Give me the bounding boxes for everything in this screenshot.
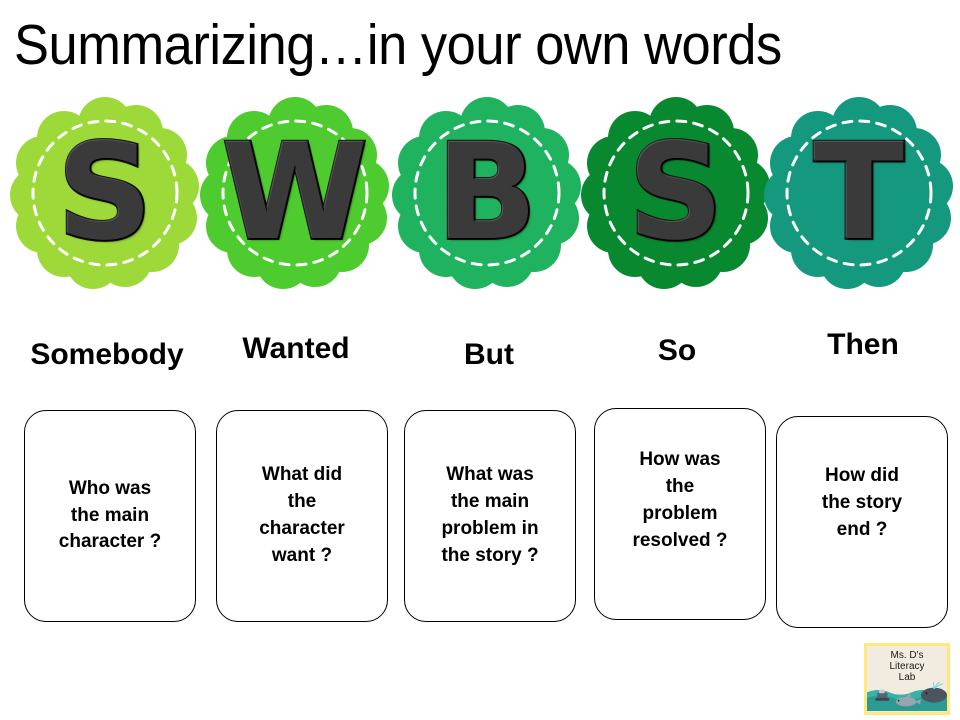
- question-text: What was the main problem in the story ?: [435, 462, 544, 570]
- word-label-so: So: [584, 334, 770, 368]
- word-label-wanted: Wanted: [203, 332, 389, 366]
- badge-letter-glyph: S: [583, 100, 769, 286]
- badge-letter-glyph: T: [766, 100, 952, 286]
- letter-badge-so: .petal-3{fill:#08892f;} S: [583, 100, 769, 286]
- logo-line-1: Ms. D's: [867, 650, 947, 661]
- question-box-but[interactable]: What was the main problem in the story ?: [404, 410, 576, 622]
- word-label-then: Then: [770, 328, 956, 362]
- word-label-row: Somebody Wanted But So Then: [0, 316, 960, 372]
- question-box-wanted[interactable]: What did the character want ?: [216, 410, 388, 622]
- letter-badge-but: .petal-2{fill:#1fb35f;} B: [394, 100, 580, 286]
- ocean-illustration-icon: [867, 682, 947, 712]
- question-text: What did the character want ?: [253, 462, 351, 570]
- page-title: Summarizing…in your own words: [14, 14, 871, 76]
- logo-line-2: Literacy: [867, 661, 947, 672]
- logo-text-block: Ms. D's Literacy Lab: [867, 650, 947, 683]
- logo-line-3: Lab: [867, 672, 947, 683]
- question-text: Who was the main character ?: [53, 476, 167, 557]
- letter-badge-somebody: .petal-0{fill:#9ed93a;} S: [12, 100, 198, 286]
- whale-icon: [921, 682, 947, 703]
- dolphin-eye: [898, 700, 900, 702]
- letter-badge-row: .petal-0{fill:#9ed93a;} S .petal-1{fill:…: [0, 100, 960, 292]
- publisher-logo: Ms. D's Literacy Lab: [864, 643, 950, 715]
- question-box-somebody[interactable]: Who was the main character ?: [24, 410, 196, 622]
- question-box-so[interactable]: How was the problem resolved ?: [594, 408, 766, 620]
- letter-badge-wanted: .petal-1{fill:#4ecb2e;} W: [202, 100, 388, 286]
- badge-letter-glyph: S: [12, 100, 198, 286]
- badge-letter-glyph: B: [394, 100, 580, 286]
- word-label-somebody: Somebody: [14, 338, 200, 372]
- question-box-row: Who was the main character ? What did th…: [0, 400, 960, 622]
- word-label-but: But: [396, 338, 582, 372]
- badge-letter-glyph: W: [202, 100, 388, 286]
- letter-badge-then: .petal-4{fill:#14997e;} T: [766, 100, 952, 286]
- question-text: How did the story end ?: [816, 463, 908, 544]
- whale-eye: [926, 692, 928, 694]
- question-text: How was the problem resolved ?: [626, 447, 733, 555]
- question-box-then[interactable]: How did the story end ?: [776, 416, 948, 628]
